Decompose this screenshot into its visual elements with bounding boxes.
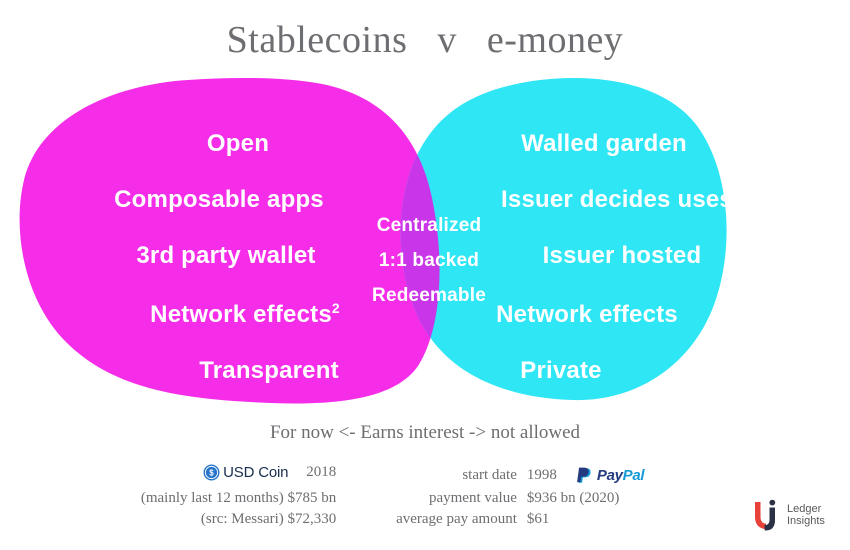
blob-stablecoins — [20, 78, 440, 403]
venn-center-item-1: 1:1 backed — [379, 250, 479, 272]
stats-left-value-1: (mainly last 12 months) $785 bn — [90, 488, 336, 509]
venn-left-item-3: Network effects2 — [150, 301, 340, 329]
stats-metric-label-1: payment value — [336, 488, 527, 509]
stats-metric-label-0: start date — [336, 462, 527, 488]
usdc-logo-icon: $ USD Coin — [203, 463, 288, 482]
usdc-start-year: 2018 — [306, 463, 336, 482]
venn-left-item-0: Open — [207, 130, 269, 158]
ledger-insights-line1: Ledger — [787, 503, 825, 515]
ledger-insights-logo[interactable]: Ledger Insights — [752, 498, 825, 532]
comparison-stats-table: $ USD Coin 2018 start date 1998 — [90, 462, 670, 530]
venn-right-item-4: Private — [520, 357, 601, 385]
paypal-logo-icon: PayPal — [577, 466, 644, 485]
ledger-insights-line2: Insights — [787, 515, 825, 527]
svg-text:$: $ — [209, 469, 214, 478]
stats-metric-label-2: average pay amount — [336, 509, 527, 530]
stats-right-value-1: $936 bn (2020) — [527, 488, 670, 509]
infographic-canvas: Stablecoins v e-money Open — [0, 0, 850, 550]
venn-diagram: Open Composable apps 3rd party wallet Ne… — [0, 70, 850, 410]
venn-right-item-2: Issuer hosted — [543, 242, 702, 270]
venn-left-item-1: Composable apps — [114, 186, 324, 214]
stats-right-brand-cell: 1998 PayPal — [527, 462, 670, 488]
paypal-p-icon — [577, 467, 593, 484]
venn-left-item-2: 3rd party wallet — [136, 242, 315, 270]
venn-right-item-0: Walled garden — [521, 130, 687, 158]
stats-left-value-2: (src: Messari) $72,330 — [90, 509, 336, 530]
paypal-brand: 1998 PayPal — [527, 466, 644, 485]
ledger-insights-mark-icon — [752, 498, 782, 532]
stats-left-brand-cell: $ USD Coin 2018 — [90, 462, 336, 488]
venn-shapes — [0, 70, 850, 410]
venn-right-item-1: Issuer decides uses — [501, 186, 733, 214]
paypal-wordmark: PayPal — [597, 466, 644, 485]
venn-center-item-0: Centralized — [377, 215, 482, 237]
page-title: Stablecoins v e-money — [0, 18, 850, 62]
usdc-wordmark: USD Coin — [223, 463, 288, 482]
venn-right-item-3: Network effects — [496, 301, 678, 329]
stats-right-value-2: $61 — [527, 509, 670, 530]
venn-center-item-2: Redeemable — [372, 285, 486, 307]
usdc-brand: $ USD Coin 2018 — [203, 463, 336, 482]
usdc-circle-icon: $ — [203, 464, 220, 481]
ledger-insights-wordmark: Ledger Insights — [787, 503, 825, 527]
venn-left-item-4: Transparent — [199, 357, 339, 385]
blob-emoney — [401, 78, 727, 400]
paypal-start-year: 1998 — [527, 466, 557, 485]
table-row: $ USD Coin 2018 start date 1998 — [90, 462, 670, 488]
footnote-marker: 2 — [332, 300, 340, 316]
table-row: (src: Messari) $72,330 average pay amoun… — [90, 509, 670, 530]
table-row: (mainly last 12 months) $785 bn payment … — [90, 488, 670, 509]
earns-interest-note: For now <- Earns interest -> not allowed — [0, 422, 850, 444]
